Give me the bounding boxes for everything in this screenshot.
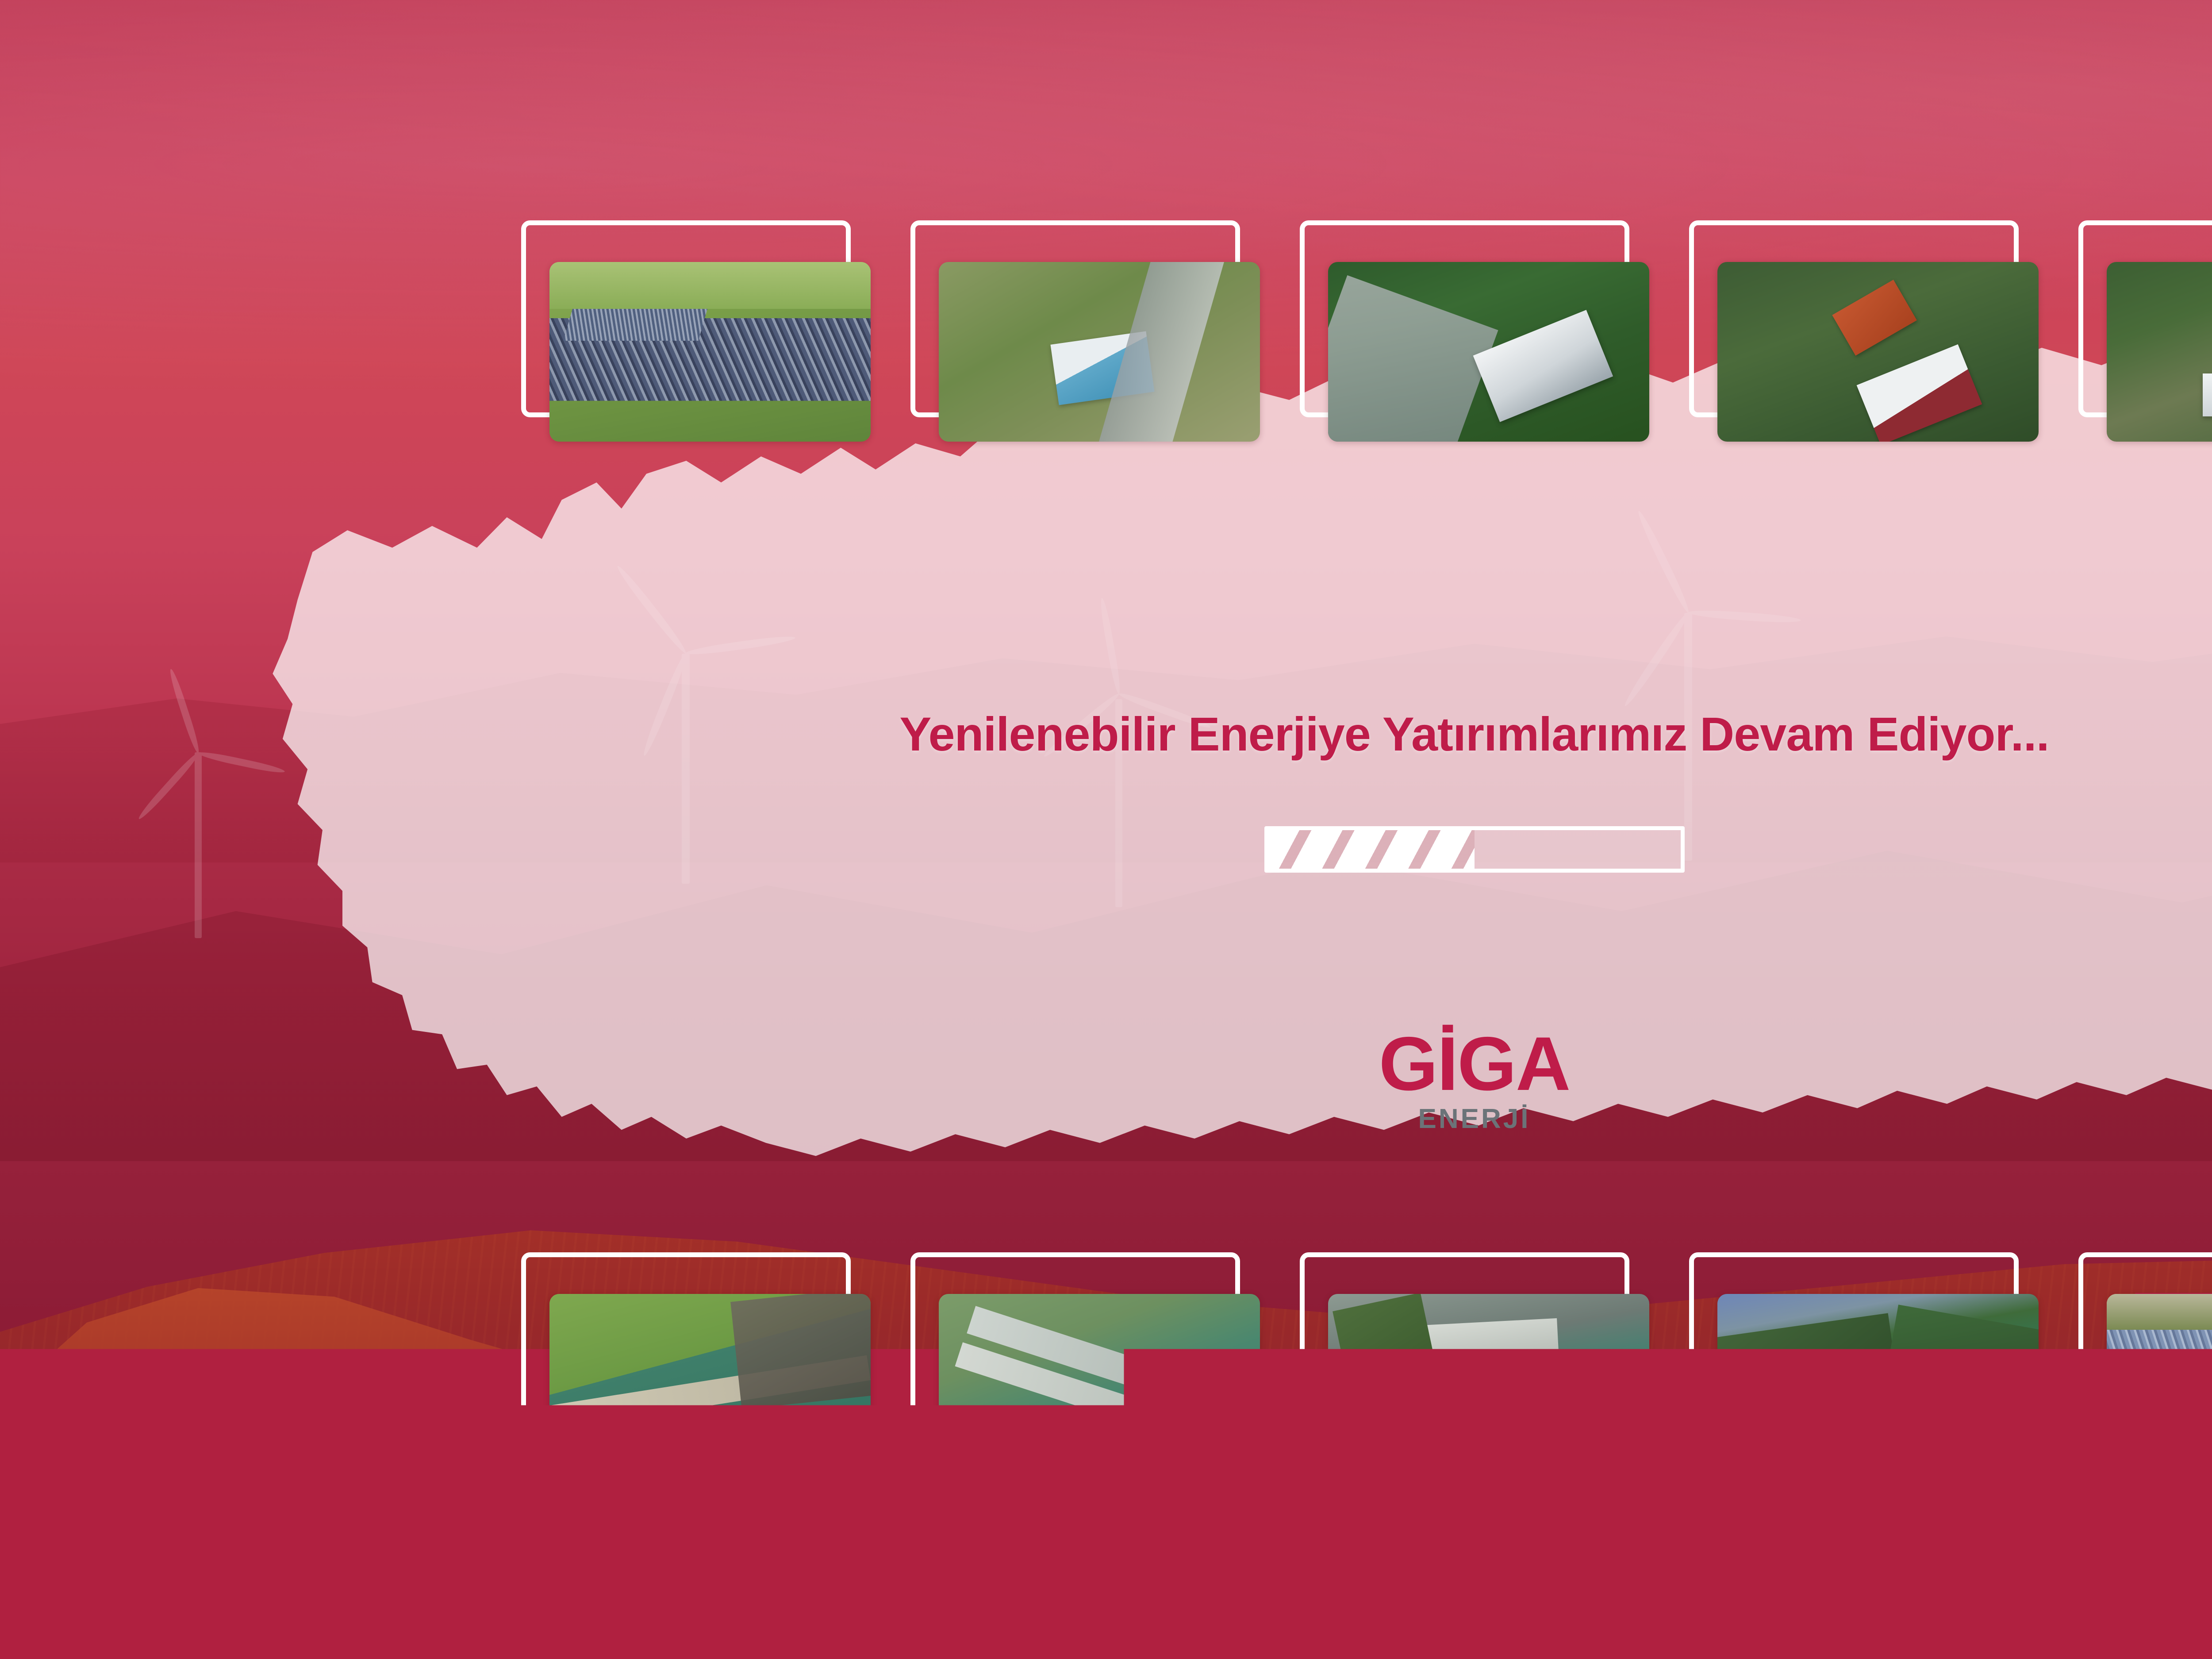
brand-logo: GİGA ENERJİ [0, 1027, 2212, 1135]
logo-subtitle: ENERJİ [0, 1103, 2212, 1135]
hydro-plant-building-aerial-art [939, 262, 1260, 442]
mountain-hydro-facility-aerial[interactable] [2078, 220, 2212, 442]
thumbnail-photo [939, 1294, 1260, 1474]
mountain-hydro-facility-aerial-art [2107, 262, 2212, 442]
green-lake-valley-aerial-art [1717, 1294, 2039, 1474]
irrigation-canal-aerial-art [939, 1294, 1260, 1474]
thumbnail-photo [2107, 1294, 2212, 1474]
solar-power-plant-aerial-art [549, 262, 871, 442]
thumbnail-photo [1328, 1294, 1649, 1474]
solar-power-plant-aerial[interactable] [521, 220, 871, 442]
irrigation-canal-aerial[interactable] [910, 1252, 1260, 1474]
gallery-row-bottom [0, 1252, 2212, 1474]
reservoir-weir-aerial[interactable] [521, 1252, 871, 1474]
solar-panel-rows-aerial[interactable] [2078, 1252, 2212, 1474]
river-powerhouse-aerial-art [1328, 262, 1649, 442]
loading-progress-bar [1264, 826, 1685, 873]
splash-stage: 0850 840 36 00 0232 290 05 06 Yenilenebi… [0, 0, 2212, 1659]
reservoir-weir-aerial-art [549, 1294, 871, 1474]
hydro-plant-building-aerial[interactable] [910, 220, 1260, 442]
thumbnail-photo [1717, 262, 2039, 442]
page-title: Yenilenebilir Enerjiye Yatırımlarımız De… [0, 706, 2212, 762]
thumbnail-photo [939, 262, 1260, 442]
thumbnail-photo [1717, 1294, 2039, 1474]
thumbnail-photo [549, 1294, 871, 1474]
concrete-dam-aerial[interactable] [1300, 1252, 1649, 1474]
thumbnail-photo [1328, 262, 1649, 442]
solar-panel-rows-aerial-art [2107, 1294, 2212, 1474]
red-roof-facility-aerial[interactable] [1689, 220, 2039, 442]
logo-wordmark: GİGA [0, 1027, 2212, 1101]
red-roof-facility-aerial-art [1717, 262, 2039, 442]
thumbnail-photo [549, 262, 871, 442]
concrete-dam-aerial-art [1328, 1294, 1649, 1474]
green-lake-valley-aerial[interactable] [1689, 1252, 2039, 1474]
river-powerhouse-aerial[interactable] [1300, 220, 1649, 442]
progress-fill [1268, 830, 1475, 869]
thumbnail-photo [2107, 262, 2212, 442]
gallery-row-top [0, 220, 2212, 442]
